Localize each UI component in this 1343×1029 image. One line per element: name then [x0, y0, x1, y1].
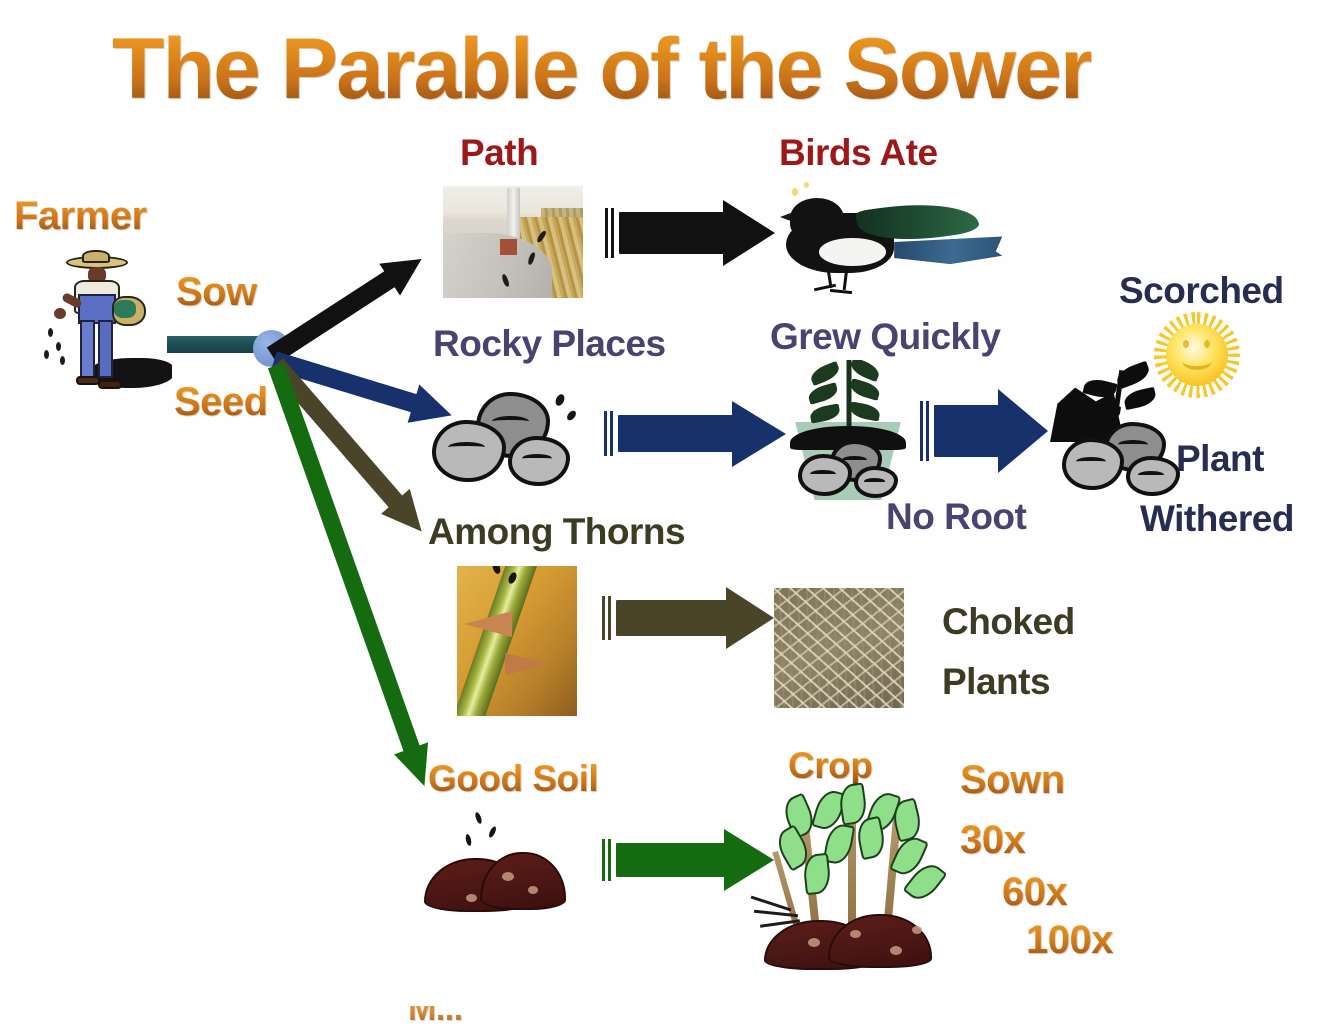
cropped-bottom-text: M... [408, 1006, 528, 1029]
farmer-icon [42, 250, 172, 395]
magpie-bird-icon [786, 196, 994, 288]
no-root-label: No Root [886, 498, 1026, 536]
sown-label: Sown [960, 760, 1065, 801]
arrow-grew-to-withered [920, 405, 1048, 457]
path-photo [443, 186, 583, 298]
rocky-places-label: Rocky Places [433, 325, 666, 363]
seed-label: Seed [174, 382, 268, 423]
yield-100x: 100x [1026, 920, 1113, 961]
sow-label: Sow [176, 272, 257, 313]
among-thorns-label: Among Thorns [428, 513, 685, 551]
withered-label: Withered [1140, 500, 1294, 538]
branch-arrow-good-soil [268, 363, 435, 795]
soil-mound-icon [418, 812, 578, 922]
withered-plant-icon [1050, 366, 1194, 500]
crop-label: Crop [788, 747, 872, 785]
good-soil-label: Good Soil [428, 760, 598, 798]
gray-rocks-icon [432, 392, 592, 496]
seed-bar [167, 336, 267, 353]
dry-thicket-photo [774, 588, 904, 708]
plant-label: Plant [1176, 440, 1264, 478]
arrow-thorns-to-choked [602, 600, 774, 636]
potted-sprout-icon [782, 360, 914, 500]
arrow-path-to-birds [605, 212, 773, 254]
yield-30x: 30x [960, 820, 1025, 861]
parable-of-the-sower-diagram: The Parable of the Sower Farmer Sow Seed [0, 0, 1343, 1029]
scorched-label: Scorched [1119, 272, 1284, 310]
birds-ate-label: Birds Ate [779, 134, 938, 172]
farmer-label: Farmer [14, 196, 147, 237]
crop-plants-icon [744, 790, 960, 970]
plants-label: Plants [942, 663, 1050, 701]
branch-arrow-path [267, 252, 425, 364]
grew-quickly-label: Grew Quickly [770, 318, 1001, 356]
yield-60x: 60x [1002, 872, 1067, 913]
arrow-rocky-to-grew [604, 415, 786, 452]
choked-label: Choked [942, 603, 1075, 641]
path-label: Path [460, 134, 538, 172]
page-title: The Parable of the Sower [112, 26, 1091, 114]
thorn-photo [457, 566, 577, 716]
